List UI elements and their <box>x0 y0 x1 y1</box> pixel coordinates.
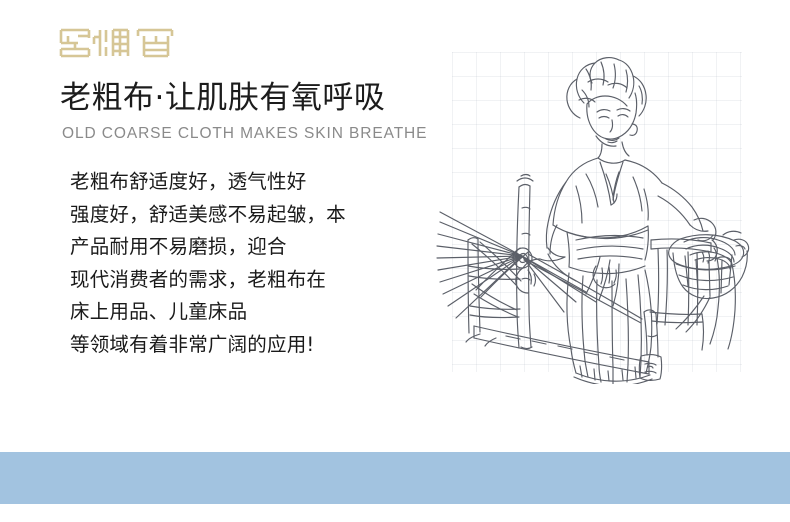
body-line: 现代消费者的需求，老粗布在 <box>70 264 400 297</box>
body-line: 床上用品、儿童床品 <box>70 296 400 329</box>
seal-script-logo-icon <box>58 26 176 60</box>
body-copy: 老粗布舒适度好，透气性好 强度好，舒适美感不易起皱，本 产品耐用不易磨损，迎合 … <box>70 166 400 361</box>
spinning-wheel-illustration <box>436 44 756 384</box>
body-line: 强度好，舒适美感不易起皱，本 <box>70 199 400 232</box>
woman-at-spinning-wheel-illustration-icon <box>436 44 756 384</box>
body-line: 老粗布舒适度好，透气性好 <box>70 166 400 199</box>
bottom-color-band <box>0 452 790 504</box>
body-line: 等领域有着非常广阔的应用! <box>70 329 400 362</box>
page-subtitle: OLD COARSE CLOTH MAKES SKIN BREATHE <box>62 124 440 144</box>
body-line: 产品耐用不易磨损，迎合 <box>70 231 400 264</box>
page-title: 老粗布·让肌肤有氧呼吸 <box>60 76 440 120</box>
headline-block: 老粗布·让肌肤有氧呼吸 OLD COARSE CLOTH MAKES SKIN … <box>60 76 440 144</box>
brand-logo[interactable] <box>58 26 176 60</box>
product-feature-banner: 老粗布·让肌肤有氧呼吸 OLD COARSE CLOTH MAKES SKIN … <box>0 0 790 522</box>
